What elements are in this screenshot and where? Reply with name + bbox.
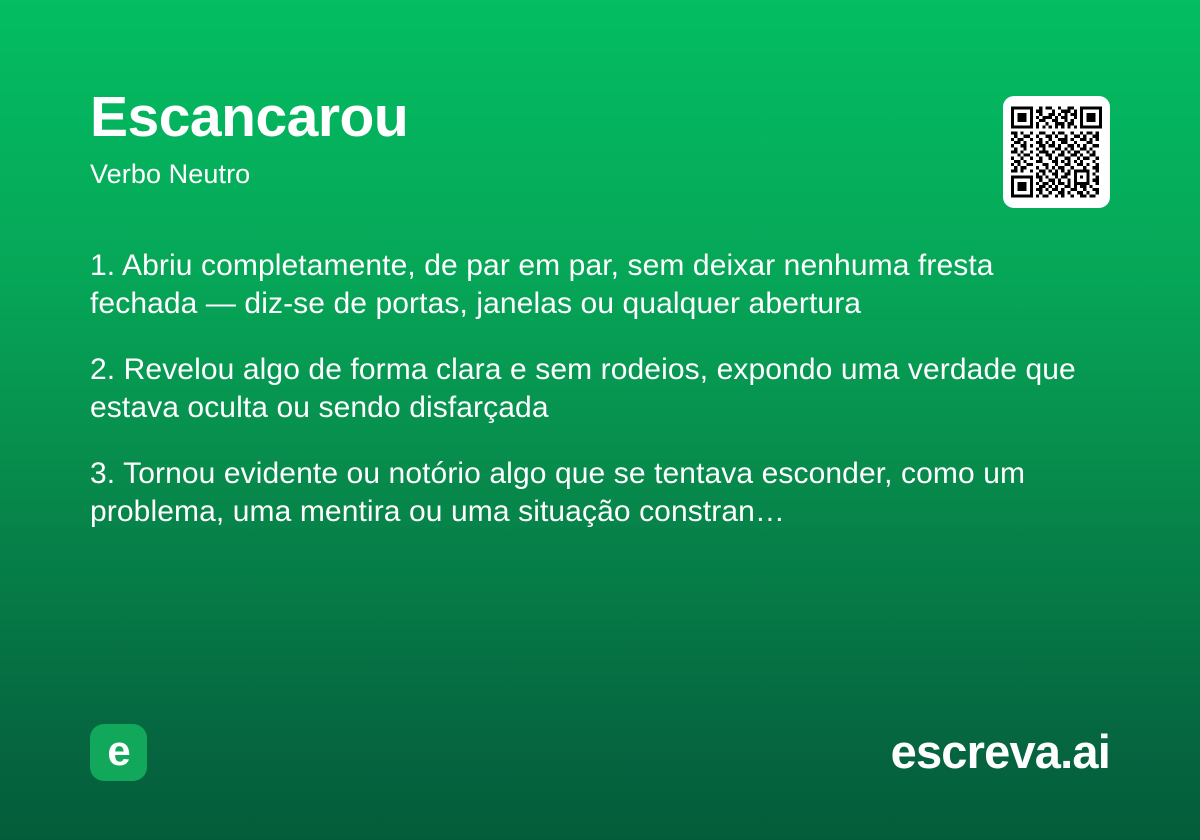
word-class-label: Verbo Neutro <box>90 158 1110 190</box>
qr-code-panel[interactable] <box>1003 96 1110 208</box>
definition-item: 1. Abriu completamente, de par em par, s… <box>90 247 1095 323</box>
brand-wordmark: escreva.ai <box>891 726 1110 778</box>
definition-list: 1. Abriu completamente, de par em par, s… <box>90 247 1100 531</box>
card-header: Escancarou Verbo Neutro <box>90 88 1110 190</box>
definition-item: 2. Revelou algo de forma clara e sem rod… <box>90 351 1095 427</box>
qr-code-icon <box>1011 105 1102 199</box>
page-title: Escancarou <box>90 88 1110 148</box>
brand-logo[interactable]: e <box>90 724 147 781</box>
brand-logo-letter: e <box>107 730 129 772</box>
definition-item: 3. Tornou evidente ou notório algo que s… <box>90 455 1095 531</box>
dictionary-card: Escancarou Verbo Neutro <box>0 0 1200 840</box>
